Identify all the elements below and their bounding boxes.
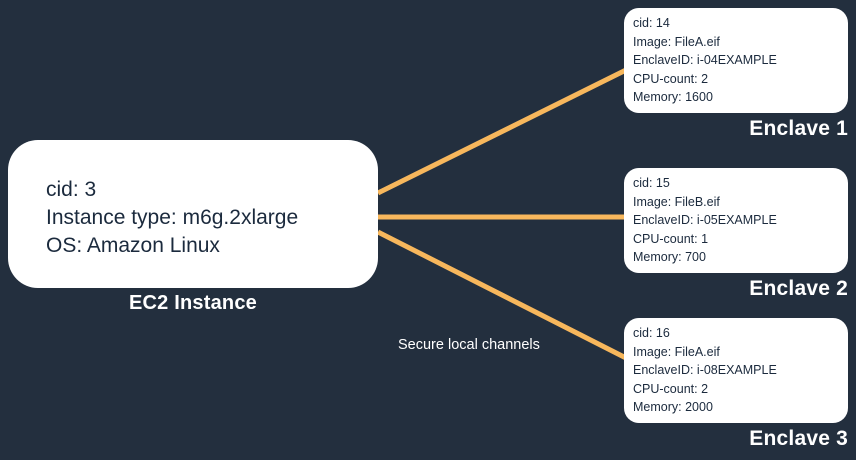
enclave-1-detail-image: Image: FileA.eif bbox=[633, 33, 842, 52]
enclave-3-detail-cid: cid: 16 bbox=[633, 324, 842, 343]
enclave-3-details: cid: 16 Image: FileA.eif EnclaveID: i-08… bbox=[633, 324, 842, 417]
secure-local-channels-label: Secure local channels bbox=[398, 337, 540, 353]
enclave-2-detail-image: Image: FileB.eif bbox=[633, 193, 842, 212]
enclave-1-detail-cid: cid: 14 bbox=[633, 14, 842, 33]
enclave-2-detail-memory: Memory: 700 bbox=[633, 248, 842, 267]
enclave-3-caption: Enclave 3 bbox=[624, 427, 848, 451]
ec2-detail-os: OS: Amazon Linux bbox=[46, 232, 360, 260]
ec2-instance-node[interactable]: cid: 3 Instance type: m6g.2xlarge OS: Am… bbox=[8, 140, 378, 288]
enclave-2-detail-cid: cid: 15 bbox=[633, 174, 842, 193]
connector-ec2-to-enclave-1 bbox=[378, 70, 626, 193]
enclave-node-3[interactable]: cid: 16 Image: FileA.eif EnclaveID: i-08… bbox=[624, 318, 848, 423]
enclave-3-detail-memory: Memory: 2000 bbox=[633, 398, 842, 417]
ec2-instance-details: cid: 3 Instance type: m6g.2xlarge OS: Am… bbox=[46, 176, 360, 260]
enclave-1-caption: Enclave 1 bbox=[624, 117, 848, 141]
enclave-1-detail-memory: Memory: 1600 bbox=[633, 88, 842, 107]
enclave-2-details: cid: 15 Image: FileB.eif EnclaveID: i-05… bbox=[633, 174, 842, 267]
enclave-1-detail-cpu-count: CPU-count: 2 bbox=[633, 70, 842, 89]
ec2-instance-caption: EC2 Instance bbox=[8, 292, 378, 315]
enclave-1-details: cid: 14 Image: FileA.eif EnclaveID: i-04… bbox=[633, 14, 842, 107]
ec2-detail-cid: cid: 3 bbox=[46, 176, 360, 204]
enclave-2-detail-enclave-id: EnclaveID: i-05EXAMPLE bbox=[633, 211, 842, 230]
enclave-2-caption: Enclave 2 bbox=[624, 277, 848, 301]
enclave-node-1[interactable]: cid: 14 Image: FileA.eif EnclaveID: i-04… bbox=[624, 8, 848, 113]
enclave-3-detail-cpu-count: CPU-count: 2 bbox=[633, 380, 842, 399]
ec2-detail-instance-type: Instance type: m6g.2xlarge bbox=[46, 204, 360, 232]
enclave-1-detail-enclave-id: EnclaveID: i-04EXAMPLE bbox=[633, 51, 842, 70]
enclave-3-detail-image: Image: FileA.eif bbox=[633, 343, 842, 362]
enclave-node-2[interactable]: cid: 15 Image: FileB.eif EnclaveID: i-05… bbox=[624, 168, 848, 273]
enclave-2-detail-cpu-count: CPU-count: 1 bbox=[633, 230, 842, 249]
enclave-3-detail-enclave-id: EnclaveID: i-08EXAMPLE bbox=[633, 361, 842, 380]
diagram-canvas: cid: 3 Instance type: m6g.2xlarge OS: Am… bbox=[0, 0, 856, 460]
